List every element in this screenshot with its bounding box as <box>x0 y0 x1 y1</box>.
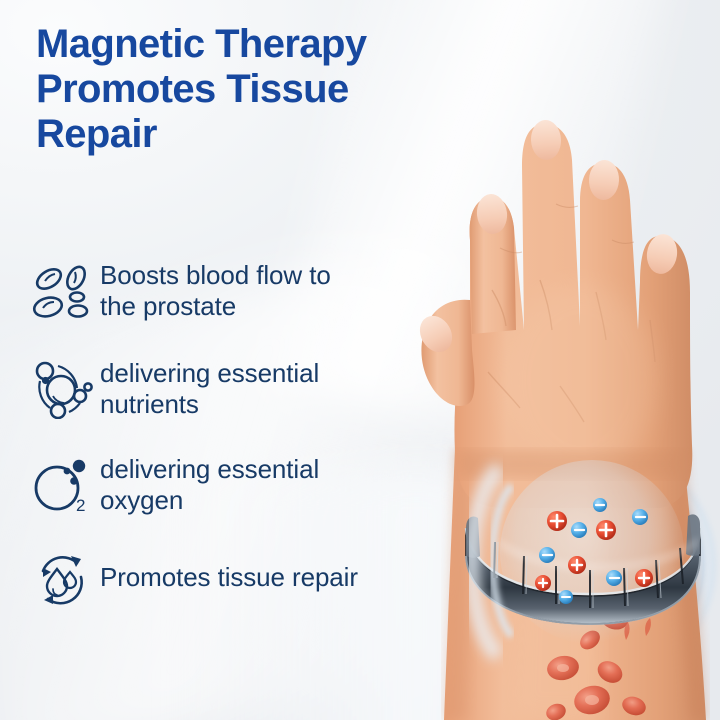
list-item: delivering essential nutrients <box>24 354 460 424</box>
list-item-label: delivering essential nutrients <box>100 354 319 420</box>
list-item: Promotes tissue repair <box>24 546 460 616</box>
list-item-label: delivering essential oxygen <box>100 450 319 516</box>
list-item: 2 delivering essential oxygen <box>24 450 460 520</box>
particle-negative <box>559 590 573 604</box>
feature-list: Boosts blood flow to the prostate delive… <box>24 258 460 616</box>
particle-negative <box>632 509 648 525</box>
particle-positive <box>547 511 567 531</box>
particle-negative <box>571 522 587 538</box>
oxygen-o2-icon: 2 <box>24 450 100 520</box>
particle-negative <box>606 570 622 586</box>
tissue-repair-droplet-cycle-icon <box>24 546 100 616</box>
particle-positive <box>596 520 616 540</box>
poster-canvas: Magnetic Therapy Promotes Tissue Repair … <box>0 0 720 720</box>
particle-positive <box>635 569 653 587</box>
list-item-label: Boosts blood flow to the prostate <box>100 258 331 322</box>
nutrients-molecule-icon <box>24 354 100 424</box>
list-item-label: Promotes tissue repair <box>100 546 358 593</box>
particle-negative <box>593 498 607 512</box>
blood-cells-icon <box>24 258 100 328</box>
page-title: Magnetic Therapy Promotes Tissue Repair <box>36 22 466 158</box>
particle-negative <box>539 547 555 563</box>
particle-positive <box>568 556 586 574</box>
svg-text:2: 2 <box>76 496 85 515</box>
list-item: Boosts blood flow to the prostate <box>24 258 460 328</box>
particle-positive <box>535 575 551 591</box>
